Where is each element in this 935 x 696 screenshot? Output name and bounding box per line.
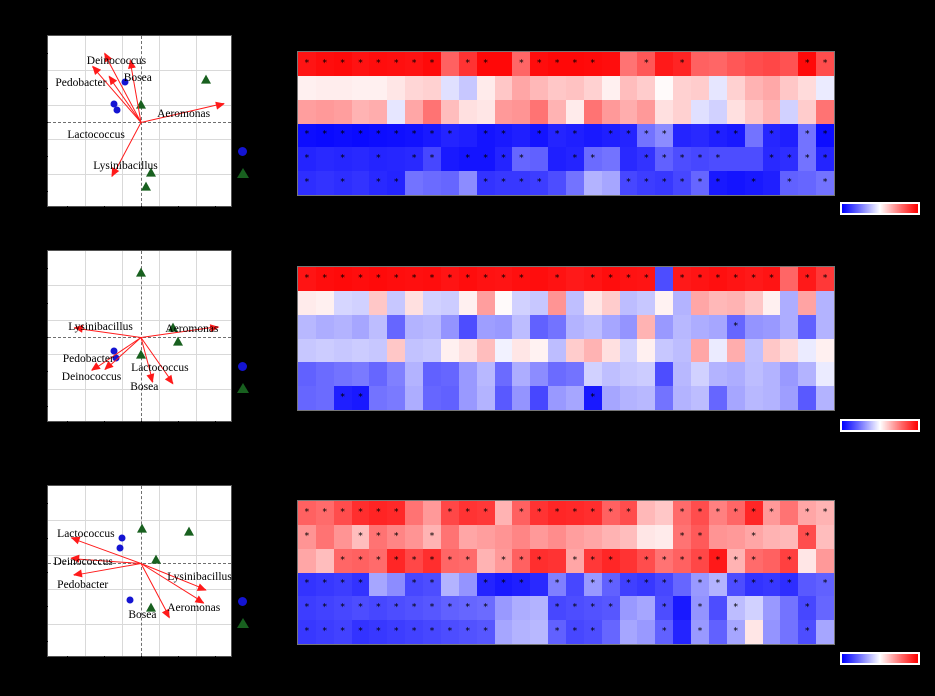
- heatmap-cell: [530, 386, 548, 410]
- significance-star: *: [519, 179, 524, 188]
- heatmap-column-tick: [717, 645, 718, 649]
- heatmap-cell: *: [637, 147, 655, 171]
- significance-star: *: [626, 274, 631, 283]
- heatmap-cell: *: [584, 501, 602, 525]
- heatmap-cell: [745, 362, 763, 386]
- axis-tick-bottom: [67, 421, 68, 426]
- heatmap-cell: [334, 76, 352, 100]
- heatmap-cell: [655, 76, 673, 100]
- heatmap-cell: *: [459, 596, 477, 620]
- significance-star: *: [698, 274, 703, 283]
- heatmap-cell: [548, 386, 566, 410]
- heatmap-cell: *: [334, 267, 352, 291]
- heatmap-cell: *: [423, 549, 441, 573]
- heatmap-column-tick: [467, 645, 468, 649]
- significance-star: *: [305, 59, 310, 68]
- heatmap-cell: [459, 171, 477, 195]
- significance-star: *: [698, 179, 703, 188]
- significance-star: *: [376, 274, 381, 283]
- sample-point-triangle: [137, 524, 147, 533]
- significance-star: *: [698, 604, 703, 613]
- heatmap-cell: *: [763, 267, 781, 291]
- heatmap-cell: *: [369, 596, 387, 620]
- significance-star: *: [626, 508, 631, 517]
- heatmap-cell: [620, 76, 638, 100]
- axis-tick-left: [43, 606, 48, 607]
- significance-star: *: [394, 604, 399, 613]
- significance-star: *: [430, 580, 435, 589]
- axis-tick-left: [43, 88, 48, 89]
- heatmap-cell: [298, 76, 316, 100]
- significance-star: *: [733, 628, 738, 637]
- significance-star: *: [376, 508, 381, 517]
- heatmap-column-tick: [592, 411, 593, 415]
- heatmap-cell: [655, 267, 673, 291]
- heatmap-cell: [423, 100, 441, 124]
- heatmap-column-tick: [342, 645, 343, 649]
- heatmap-cell: [566, 267, 584, 291]
- significance-star: *: [376, 131, 381, 140]
- significance-star: *: [305, 179, 310, 188]
- significance-star: *: [376, 604, 381, 613]
- heatmap-cell: *: [459, 501, 477, 525]
- colorbar-gradient: [842, 421, 918, 430]
- heatmap-cell: *: [530, 549, 548, 573]
- significance-star: *: [358, 508, 363, 517]
- heatmap-column-tick: [556, 196, 557, 200]
- heatmap-cell: [548, 315, 566, 339]
- significance-star: *: [769, 131, 774, 140]
- heatmap-cell: [691, 291, 709, 315]
- significance-star: *: [323, 131, 328, 140]
- heatmap-cell: *: [745, 525, 763, 549]
- heatmap-cell: [780, 620, 798, 644]
- significance-star: *: [591, 394, 596, 403]
- axis-tick-bottom: [104, 656, 105, 661]
- heatmap-cell: *: [745, 549, 763, 573]
- heatmap-cell: *: [637, 124, 655, 148]
- heatmap-cell: [423, 339, 441, 363]
- heatmap-cell: [316, 362, 334, 386]
- significance-star: *: [626, 179, 631, 188]
- significance-star: *: [430, 556, 435, 565]
- heatmap-cell: [673, 386, 691, 410]
- significance-star: *: [591, 580, 596, 589]
- legend-marker-circle: [238, 147, 247, 156]
- significance-star: *: [340, 59, 345, 68]
- heatmap-cell: *: [691, 573, 709, 597]
- heatmap-cell: *: [298, 596, 316, 620]
- heatmap-cell: *: [780, 171, 798, 195]
- heatmap-cell: [548, 171, 566, 195]
- heatmap-cell: [512, 620, 530, 644]
- heatmap-cell: [387, 291, 405, 315]
- heatmap-cell: [423, 291, 441, 315]
- heatmap-cell: [352, 171, 370, 195]
- heatmap-cell: [709, 76, 727, 100]
- heatmap-column-tick: [770, 411, 771, 415]
- significance-star: *: [501, 131, 506, 140]
- axis-tick-bottom: [104, 421, 105, 426]
- heatmap-cell: [530, 267, 548, 291]
- heatmap-cell: *: [387, 267, 405, 291]
- heatmap-cell: [548, 525, 566, 549]
- sample-point-circle: [127, 597, 134, 604]
- significance-star: *: [340, 580, 345, 589]
- legend-marker-triangle: [237, 168, 249, 178]
- significance-star: *: [805, 532, 810, 541]
- heatmap-column-tick: [735, 196, 736, 200]
- significance-star: *: [662, 628, 667, 637]
- heatmap-cell: *: [423, 267, 441, 291]
- significance-star: *: [573, 628, 578, 637]
- heatmap-cell: [816, 315, 834, 339]
- heatmap-cell: *: [423, 620, 441, 644]
- heatmap-cell: [369, 386, 387, 410]
- heatmap-cell: [798, 76, 816, 100]
- significance-star: *: [376, 59, 381, 68]
- heatmap-cell: [816, 596, 834, 620]
- heatmap-cell: [369, 100, 387, 124]
- significance-star: *: [376, 155, 381, 164]
- heatmap-cell: [655, 315, 673, 339]
- correlation-heatmap-panel-b: ******************************: [297, 266, 835, 411]
- heatmap-cell: [637, 386, 655, 410]
- species-label: Deinococcus: [62, 371, 121, 383]
- heatmap-cell: *: [655, 124, 673, 148]
- heatmap-cell: *: [423, 525, 441, 549]
- heatmap-cell: *: [477, 501, 495, 525]
- heatmap-cell: [548, 100, 566, 124]
- heatmap-cell: [584, 291, 602, 315]
- heatmap-column-tick: [449, 196, 450, 200]
- heatmap-cell: [459, 76, 477, 100]
- heatmap-cell: [316, 100, 334, 124]
- significance-star: *: [591, 274, 596, 283]
- heatmap-cell: [405, 339, 423, 363]
- grid-line-vertical: [85, 251, 86, 421]
- heatmap-cell: *: [495, 171, 513, 195]
- heatmap-column-tick: [485, 411, 486, 415]
- significance-star: *: [323, 580, 328, 589]
- heatmap-cell: [691, 339, 709, 363]
- significance-star: *: [733, 322, 738, 331]
- heatmap-column-tick: [395, 411, 396, 415]
- significance-star: *: [555, 274, 560, 283]
- heatmap-cell: [566, 100, 584, 124]
- heatmap-cell: [620, 52, 638, 76]
- heatmap-cell: [691, 362, 709, 386]
- heatmap-column-tick: [485, 196, 486, 200]
- significance-star: *: [573, 155, 578, 164]
- significance-star: *: [412, 580, 417, 589]
- heatmap-cell: [745, 76, 763, 100]
- heatmap-cell: [745, 596, 763, 620]
- heatmap-cell: [441, 76, 459, 100]
- grid-line-horizontal: [48, 285, 231, 286]
- species-label: Aeromonas: [167, 602, 220, 614]
- significance-star: *: [323, 604, 328, 613]
- sample-point-circle: [119, 534, 126, 541]
- significance-star: *: [465, 155, 470, 164]
- significance-star: *: [769, 508, 774, 517]
- sample-point-triangle: [184, 526, 194, 535]
- significance-star: *: [412, 604, 417, 613]
- heatmap-cell: [459, 315, 477, 339]
- significance-star: *: [751, 274, 756, 283]
- heatmap-column-tick: [717, 411, 718, 415]
- heatmap-cell: [602, 339, 620, 363]
- heatmap-cell: [673, 596, 691, 620]
- significance-star: *: [555, 628, 560, 637]
- heatmap-cell: [548, 549, 566, 573]
- heatmap-cell: [602, 315, 620, 339]
- heatmap-cell: *: [763, 573, 781, 597]
- heatmap-column-tick: [556, 411, 557, 415]
- heatmap-cell: *: [548, 501, 566, 525]
- axis-tick-bottom: [215, 421, 216, 426]
- significance-star: *: [537, 131, 542, 140]
- significance-star: *: [465, 628, 470, 637]
- heatmap-cell: [352, 100, 370, 124]
- heatmap-grid: ****************************************…: [298, 52, 834, 195]
- heatmap-cell: *: [352, 52, 370, 76]
- species-label: Bosea: [130, 381, 158, 393]
- heatmap-cell: [673, 124, 691, 148]
- grid-line-horizontal: [48, 70, 231, 71]
- species-label: Deinococcus: [53, 556, 112, 568]
- heatmap-cell: [763, 291, 781, 315]
- heatmap-cell: [530, 362, 548, 386]
- significance-star: *: [430, 155, 435, 164]
- heatmap-cell: [691, 386, 709, 410]
- axis-zero-vertical: [141, 486, 142, 656]
- heatmap-column-tick: [467, 411, 468, 415]
- heatmap-cell: *: [620, 573, 638, 597]
- heatmap-cell: [316, 315, 334, 339]
- heatmap-cell: [298, 339, 316, 363]
- heatmap-cell: *: [566, 620, 584, 644]
- heatmap-cell: [727, 100, 745, 124]
- heatmap-cell: *: [298, 124, 316, 148]
- significance-star: *: [412, 556, 417, 565]
- heatmap-cell: *: [816, 171, 834, 195]
- significance-star: *: [465, 604, 470, 613]
- significance-star: *: [680, 532, 685, 541]
- heatmap-cell: *: [512, 147, 530, 171]
- heatmap-cell: [495, 291, 513, 315]
- significance-star: *: [537, 556, 542, 565]
- heatmap-cell: *: [566, 501, 584, 525]
- significance-star: *: [394, 274, 399, 283]
- significance-star: *: [305, 274, 310, 283]
- significance-star: *: [751, 556, 756, 565]
- heatmap-cell: [655, 52, 673, 76]
- heatmap-cell: [405, 386, 423, 410]
- colorbar-tick: [903, 432, 904, 435]
- significance-star: *: [358, 394, 363, 403]
- axis-tick-bottom: [178, 206, 179, 211]
- heatmap-cell: [620, 147, 638, 171]
- significance-star: *: [555, 604, 560, 613]
- heatmap-cell: [530, 620, 548, 644]
- species-label: Lysinibacillus: [93, 160, 158, 172]
- heatmap-column-tick: [431, 411, 432, 415]
- heatmap-cell: *: [423, 573, 441, 597]
- heatmap-cell: *: [459, 267, 477, 291]
- significance-star: *: [644, 59, 649, 68]
- heatmap-cell: *: [637, 267, 655, 291]
- heatmap-cell: *: [316, 596, 334, 620]
- heatmap-cell: [709, 362, 727, 386]
- axis-tick-bottom: [178, 656, 179, 661]
- heatmap-cell: *: [620, 171, 638, 195]
- significance-star: *: [448, 274, 453, 283]
- heatmap-cell: [316, 339, 334, 363]
- heatmap-cell: *: [691, 549, 709, 573]
- heatmap-cell: [405, 362, 423, 386]
- sample-point-triangle: [201, 74, 211, 83]
- heatmap-cell: [655, 362, 673, 386]
- heatmap-cell: *: [691, 501, 709, 525]
- colorbar-tick: [880, 665, 881, 668]
- significance-star: *: [680, 59, 685, 68]
- axis-tick-bottom: [141, 206, 142, 211]
- heatmap-cell: *: [334, 52, 352, 76]
- significance-star: *: [340, 556, 345, 565]
- significance-star: *: [733, 508, 738, 517]
- heatmap-cell: [798, 386, 816, 410]
- significance-star: *: [430, 59, 435, 68]
- heatmap-column-tick: [770, 196, 771, 200]
- axis-tick-left: [43, 371, 48, 372]
- heatmap-cell: *: [620, 501, 638, 525]
- heatmap-cell: [637, 525, 655, 549]
- heatmap-cell: [441, 525, 459, 549]
- significance-star: *: [591, 59, 596, 68]
- heatmap-column-tick: [699, 645, 700, 649]
- heatmap-cell: *: [584, 573, 602, 597]
- significance-star: *: [716, 131, 721, 140]
- heatmap-cell: *: [727, 124, 745, 148]
- heatmap-cell: [477, 76, 495, 100]
- heatmap-cell: [602, 386, 620, 410]
- sample-point-triangle: [151, 555, 161, 564]
- species-label: Deinococcus: [87, 55, 146, 67]
- heatmap-cell: [763, 525, 781, 549]
- heatmap-column-tick: [663, 411, 664, 415]
- heatmap-cell: [655, 339, 673, 363]
- heatmap-column-tick: [592, 645, 593, 649]
- heatmap-cell: *: [602, 596, 620, 620]
- significance-star: *: [662, 556, 667, 565]
- heatmap-cell: [637, 362, 655, 386]
- significance-star: *: [340, 155, 345, 164]
- heatmap-column-tick: [574, 196, 575, 200]
- heatmap-cell: *: [352, 549, 370, 573]
- heatmap-column-tick: [449, 645, 450, 649]
- heatmap-cell: [709, 100, 727, 124]
- heatmap-cell: [602, 362, 620, 386]
- species-label: Lactococcus: [131, 362, 188, 374]
- significance-star: *: [591, 508, 596, 517]
- heatmap-column-tick: [502, 196, 503, 200]
- heatmap-cell: [316, 147, 334, 171]
- heatmap-cell: *: [709, 147, 727, 171]
- heatmap-cell: *: [477, 52, 495, 76]
- heatmap-cell: *: [655, 147, 673, 171]
- heatmap-cell: [709, 315, 727, 339]
- heatmap-cell: *: [727, 620, 745, 644]
- heatmap-cell: *: [352, 501, 370, 525]
- significance-star: *: [501, 580, 506, 589]
- heatmap-cell: [423, 501, 441, 525]
- heatmap-cell: [530, 147, 548, 171]
- heatmap-cell: [530, 100, 548, 124]
- heatmap-cell: [405, 171, 423, 195]
- heatmap-cell: *: [637, 171, 655, 195]
- heatmap-column-tick: [360, 196, 361, 200]
- significance-star: *: [591, 155, 596, 164]
- heatmap-cell: *: [620, 124, 638, 148]
- heatmap-cell: [477, 362, 495, 386]
- significance-star: *: [519, 580, 524, 589]
- heatmap-cell: *: [763, 501, 781, 525]
- heatmap-cell: [816, 549, 834, 573]
- heatmap-cell: *: [798, 620, 816, 644]
- heatmap-cell: *: [369, 171, 387, 195]
- heatmap-cell: *: [369, 525, 387, 549]
- heatmap-cell: [780, 386, 798, 410]
- heatmap-cell: *: [798, 52, 816, 76]
- heatmap-cell: [816, 386, 834, 410]
- heatmap-cell: [655, 525, 673, 549]
- heatmap-column-tick: [502, 411, 503, 415]
- significance-star: *: [501, 274, 506, 283]
- heatmap-cell: [816, 362, 834, 386]
- heatmap-cell: [334, 100, 352, 124]
- heatmap-cell: [477, 525, 495, 549]
- heatmap-cell: [387, 386, 405, 410]
- heatmap-cell: [584, 100, 602, 124]
- heatmap-cell: [495, 596, 513, 620]
- significance-star: *: [430, 604, 435, 613]
- heatmap-cell: *: [584, 147, 602, 171]
- heatmap-cell: *: [655, 171, 673, 195]
- heatmap-cell: [620, 291, 638, 315]
- heatmap-cell: *: [763, 147, 781, 171]
- heatmap-cell: *: [584, 596, 602, 620]
- grid-line-horizontal: [48, 624, 231, 625]
- heatmap-cell: *: [512, 171, 530, 195]
- heatmap-cell: [566, 362, 584, 386]
- heatmap-cell: *: [477, 171, 495, 195]
- heatmap-cell: [405, 76, 423, 100]
- heatmap-column-tick: [538, 196, 539, 200]
- heatmap-cell: [780, 525, 798, 549]
- heatmap-cell: [495, 339, 513, 363]
- axis-tick-left: [43, 53, 48, 54]
- heatmap-cell: *: [745, 267, 763, 291]
- heatmap-cell: [441, 147, 459, 171]
- heatmap-cell: *: [673, 267, 691, 291]
- heatmap-cell: *: [316, 124, 334, 148]
- significance-star: *: [305, 628, 310, 637]
- significance-star: *: [483, 628, 488, 637]
- heatmap-column-tick: [753, 645, 754, 649]
- heatmap-grid: ******************************: [298, 267, 834, 410]
- heatmap-cell: [655, 291, 673, 315]
